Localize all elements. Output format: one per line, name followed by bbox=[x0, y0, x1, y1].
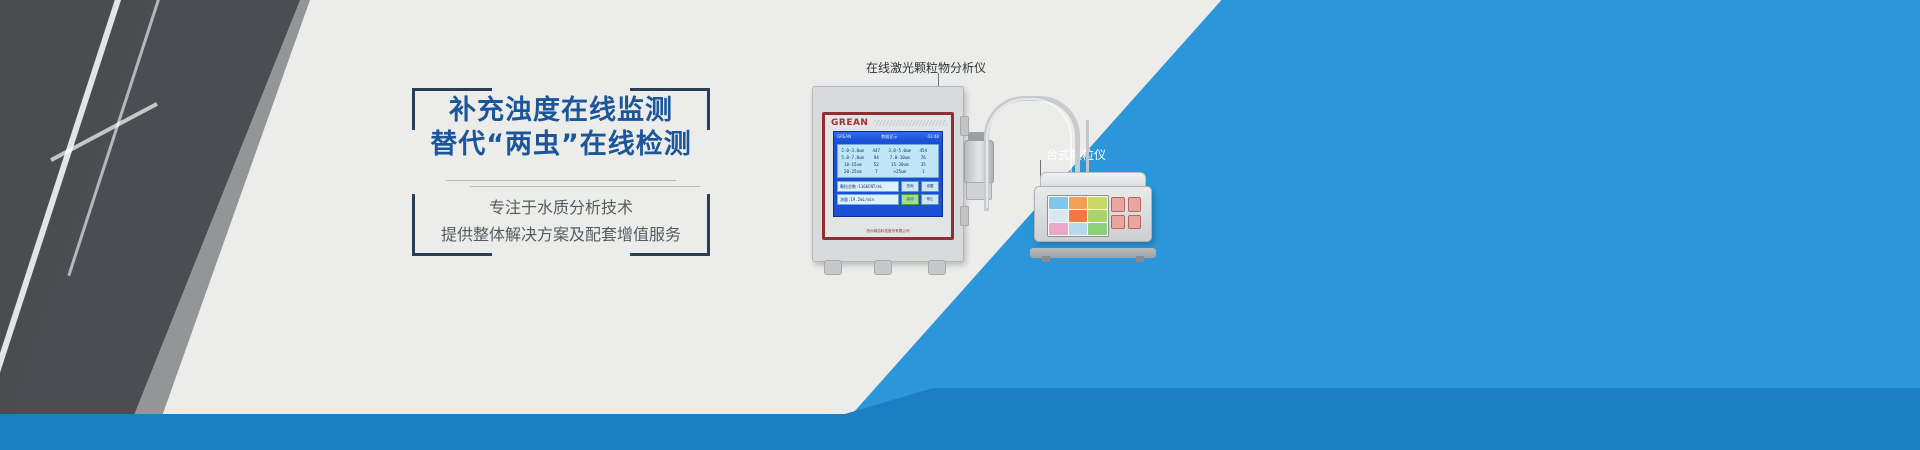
screen-button-start[interactable]: 启动 bbox=[901, 194, 919, 205]
headline-line-2: 替代“两虫”在线检测 bbox=[412, 128, 710, 162]
analyzer-display-screen[interactable]: GREAN 数据显示 03:48 2.0-3.0um 447 3.0-5.0um… bbox=[833, 131, 943, 217]
headline-line-1: 补充浊度在线监测 bbox=[412, 94, 710, 128]
bench-key-1[interactable] bbox=[1111, 197, 1125, 212]
subtitle: 专注于水质分析技术 提供整体解决方案及配套增值服务 bbox=[412, 194, 710, 248]
cell-bin-label-2: 3.0-5.0um bbox=[888, 147, 912, 154]
bracket-top-right-horizontal bbox=[630, 88, 710, 91]
benchtop-particle-counter bbox=[1034, 172, 1152, 252]
cell-bin-label-2: 7.0-10um bbox=[888, 154, 912, 161]
screen-tile bbox=[1069, 223, 1088, 235]
bench-leg-left bbox=[1042, 256, 1050, 262]
analyzer-brand-logo: GREAN bbox=[831, 118, 868, 128]
bench-leg-right bbox=[1136, 256, 1144, 262]
analyzer-company-footnote: 杭州绿洁科技股份有限公司 bbox=[825, 229, 951, 234]
analyzer-port-strip bbox=[812, 260, 964, 274]
cell-bin-count: 447 bbox=[865, 147, 889, 154]
headline-divider-lower bbox=[470, 186, 700, 187]
cell-bin-count-2: 35 bbox=[912, 161, 936, 168]
screen-button-settings[interactable]: 设置 bbox=[921, 181, 939, 192]
screen-title-bar: GREAN 数据显示 03:48 bbox=[834, 132, 942, 141]
bracket-top-left-horizontal bbox=[412, 88, 492, 91]
cell-bin-label-2: >25um bbox=[888, 168, 912, 175]
cell-bin-count-2: 76 bbox=[912, 154, 936, 161]
analyzer-hinge-bottom bbox=[960, 206, 969, 226]
screen-button-stop[interactable]: 停止 bbox=[921, 194, 939, 205]
cell-bin-label: 5.0-7.0um bbox=[841, 154, 865, 161]
table-row: 10-15um 52 15-20um 35 bbox=[841, 161, 935, 168]
subtitle-line-1: 专注于水质分析技术 bbox=[412, 194, 710, 221]
analyzer-front-door: GREAN GREAN 数据显示 03:48 2.0-3.0um 447 3.0… bbox=[822, 112, 954, 240]
screen-tile bbox=[1088, 223, 1107, 235]
bench-keypad[interactable] bbox=[1111, 197, 1141, 229]
online-particle-analyzer: GREAN GREAN 数据显示 03:48 2.0-3.0um 447 3.0… bbox=[812, 86, 964, 262]
analyzer-port-left bbox=[824, 260, 842, 275]
bench-display-screen[interactable] bbox=[1047, 195, 1109, 237]
screen-tile bbox=[1088, 197, 1107, 209]
bench-key-3[interactable] bbox=[1111, 215, 1125, 230]
analyzer-port-right bbox=[928, 260, 946, 275]
bench-key-2[interactable] bbox=[1128, 197, 1142, 212]
promo-banner: 补充浊度在线监测 替代“两虫”在线检测 专注于水质分析技术 提供整体解决方案及配… bbox=[0, 0, 1920, 450]
headline: 补充浊度在线监测 替代“两虫”在线检测 bbox=[412, 94, 710, 162]
headline-divider-upper bbox=[446, 180, 676, 181]
screen-title-left: GREAN bbox=[837, 134, 851, 139]
cell-bin-label: 10-15um bbox=[841, 161, 865, 168]
cell-bin-label-2: 15-20um bbox=[888, 161, 912, 168]
screen-tile bbox=[1088, 210, 1107, 222]
label-online-analyzer: 在线激光颗粒物分析仪 bbox=[866, 59, 986, 76]
cell-bin-label: 2.0-3.0um bbox=[841, 147, 865, 154]
analyzer-port-center bbox=[874, 260, 892, 275]
cell-bin-count: 52 bbox=[865, 161, 889, 168]
screen-data-table: 2.0-3.0um 447 3.0-5.0um 454 5.0-7.0um 94… bbox=[837, 144, 939, 178]
screen-status-row-1: 颗粒总数:1166CNT/mL 查询 设置 bbox=[837, 181, 939, 192]
cell-bin-count: 7 bbox=[865, 168, 889, 175]
screen-status-row-2: 流量:19.2mL/min 启动 停止 bbox=[837, 194, 939, 205]
table-row: 5.0-7.0um 94 7.0-10um 76 bbox=[841, 154, 935, 161]
cell-bin-count: 94 bbox=[865, 154, 889, 161]
headline-block: 补充浊度在线监测 替代“两虫”在线检测 专注于水质分析技术 提供整体解决方案及配… bbox=[412, 88, 710, 256]
screen-tile bbox=[1049, 223, 1068, 235]
bench-front-panel bbox=[1034, 186, 1152, 242]
table-row: 2.0-3.0um 447 3.0-5.0um 454 bbox=[841, 147, 935, 154]
screen-tile bbox=[1069, 197, 1088, 209]
screen-tile bbox=[1049, 197, 1068, 209]
bracket-bottom-right-horizontal bbox=[630, 253, 710, 256]
analyzer-vent-hatch bbox=[875, 120, 947, 126]
bracket-bottom-left-horizontal bbox=[412, 253, 492, 256]
cell-bin-count-2: 1 bbox=[912, 168, 936, 175]
screen-title-center: 数据显示 bbox=[881, 134, 897, 140]
screen-tile bbox=[1069, 210, 1088, 222]
screen-total-count-field: 颗粒总数:1166CNT/mL bbox=[837, 181, 899, 192]
cell-bin-count-2: 454 bbox=[912, 147, 936, 154]
cell-bin-label: 20-25um bbox=[841, 168, 865, 175]
subtitle-line-2: 提供整体解决方案及配套增值服务 bbox=[412, 221, 710, 248]
bench-key-4[interactable] bbox=[1128, 215, 1142, 230]
screen-button-query[interactable]: 查询 bbox=[901, 181, 919, 192]
bench-support-rod bbox=[1086, 120, 1089, 176]
screen-tile bbox=[1049, 210, 1068, 222]
screen-title-right: 03:48 bbox=[927, 134, 939, 139]
screen-flow-field: 流量:19.2mL/min bbox=[837, 194, 899, 205]
table-row: 20-25um 7 >25um 1 bbox=[841, 168, 935, 175]
